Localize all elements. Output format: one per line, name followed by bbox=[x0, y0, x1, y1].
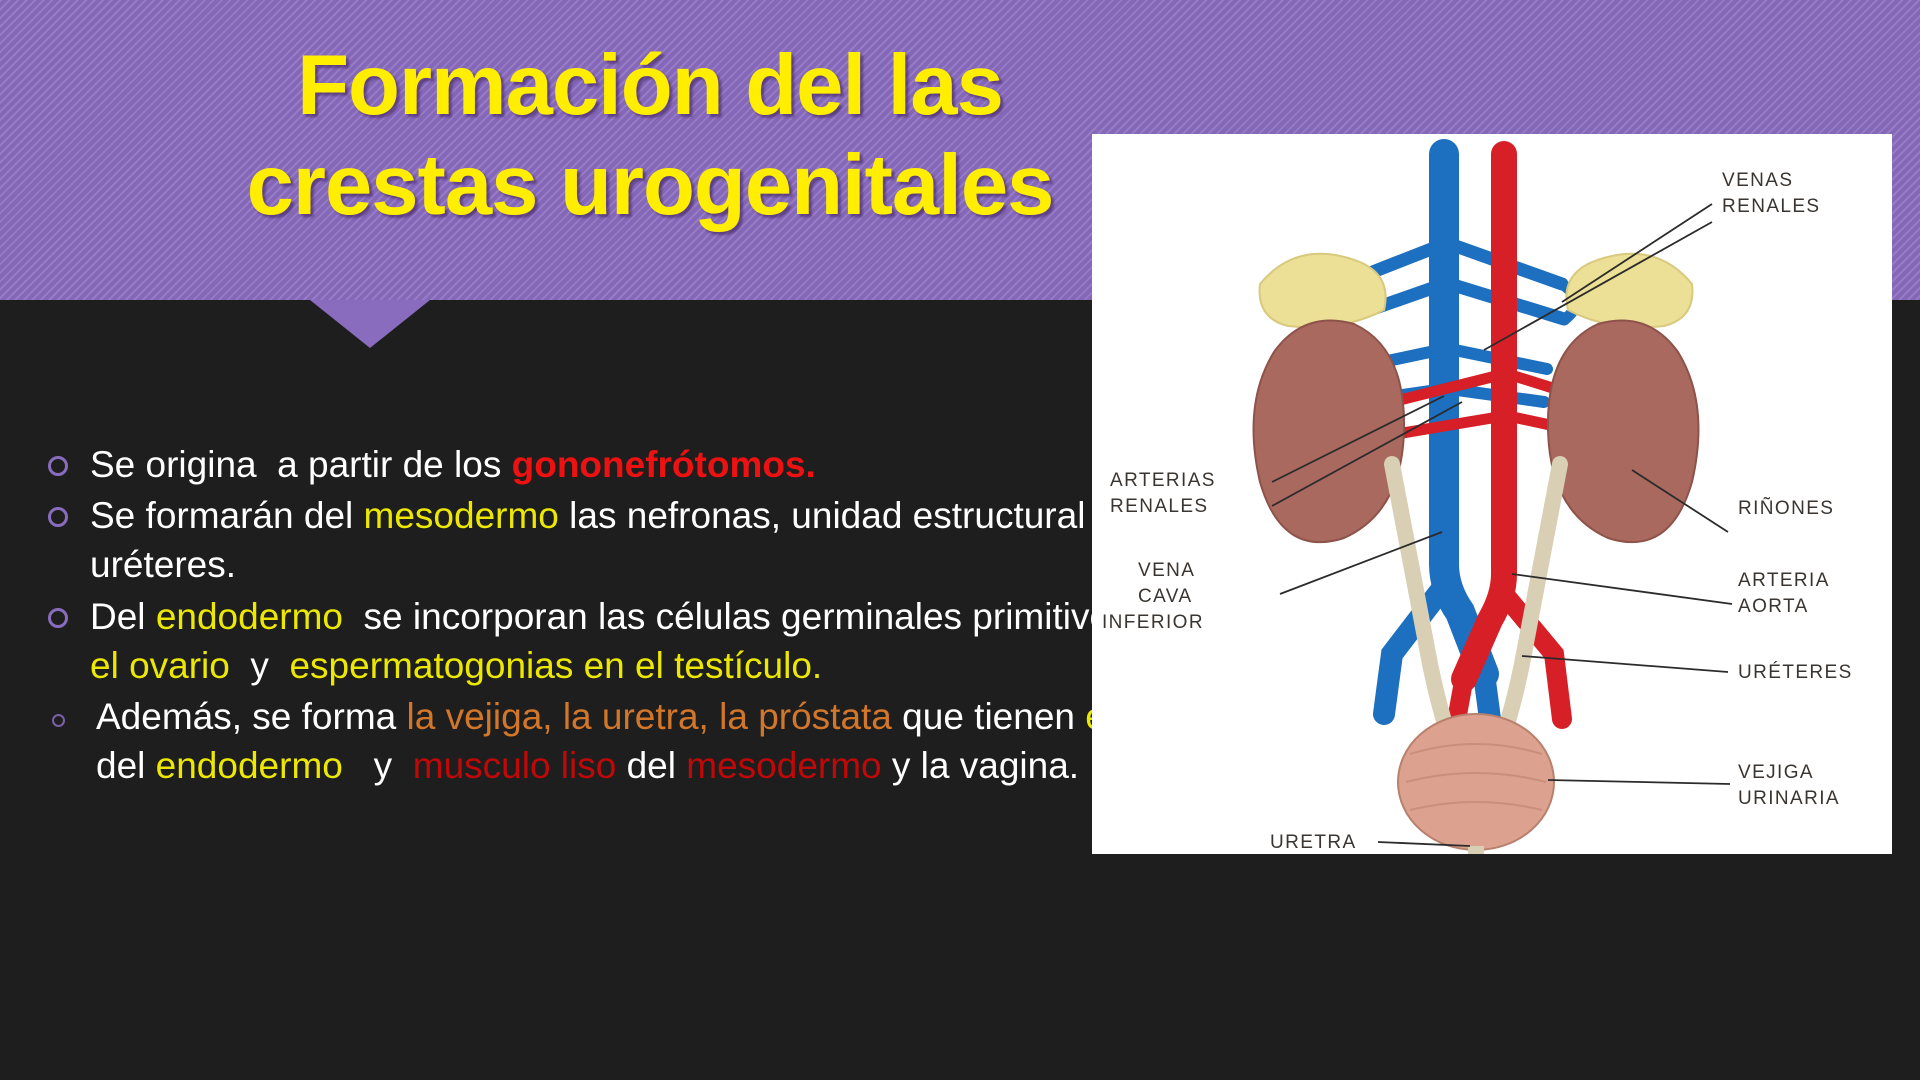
circle-ring-icon bbox=[48, 507, 68, 527]
label-venas-renales-line2: RENALES bbox=[1722, 196, 1821, 217]
text-segment-highlight: mesodermo bbox=[686, 745, 881, 786]
label-vena-cava-line2: CAVA bbox=[1138, 586, 1193, 607]
page-title: Formación del las crestas urogenitales bbox=[110, 36, 1190, 237]
text-segment-highlight: espermatogonias en el testículo. bbox=[289, 645, 822, 686]
text-segment: y la vagina. bbox=[882, 745, 1079, 786]
text-segment: Del bbox=[90, 596, 156, 637]
banner-tail-pointer bbox=[310, 300, 430, 348]
text-segment: Se formarán del bbox=[90, 495, 364, 536]
text-segment: que tienen bbox=[892, 696, 1085, 737]
label-rinones: RIÑONES bbox=[1738, 497, 1834, 519]
label-venas-renales-line1: VENAS bbox=[1722, 170, 1793, 191]
text-segment: Además, se forma bbox=[96, 696, 407, 737]
bullet-marker bbox=[48, 491, 90, 527]
page-title-line-2: crestas urogenitales bbox=[110, 136, 1190, 236]
label-vena-cava-line1: VENA bbox=[1138, 560, 1195, 581]
text-segment-highlight: gononefrótomos. bbox=[512, 444, 816, 485]
bullet-marker bbox=[48, 692, 90, 727]
text-segment-highlight: musculo liso bbox=[413, 745, 617, 786]
text-segment-highlight: mesodermo bbox=[364, 495, 559, 536]
text-segment-highlight: la vejiga, la uretra, la próstata bbox=[407, 696, 892, 737]
text-segment: Se origina a partir de los bbox=[90, 444, 512, 485]
label-vejiga-line2: URINARIA bbox=[1738, 788, 1840, 809]
label-vejiga-line1: VEJIGA bbox=[1738, 762, 1814, 783]
text-segment: y bbox=[343, 745, 413, 786]
circle-ring-icon bbox=[48, 608, 68, 628]
page-title-line-1: Formación del las bbox=[110, 36, 1190, 136]
label-arterias-renales-line2: RENALES bbox=[1110, 496, 1209, 517]
label-vena-cava-line3: INFERIOR bbox=[1102, 612, 1204, 633]
label-arteria-aorta-line1: ARTERIA bbox=[1738, 570, 1830, 591]
text-segment: y bbox=[230, 645, 290, 686]
bullet-marker bbox=[48, 440, 90, 476]
text-segment-highlight: endodermo bbox=[156, 745, 343, 786]
urinary-system-diagram: VENAS RENALES ARTERIAS RENALES VENA CAVA… bbox=[1092, 134, 1892, 854]
label-ureteres: URÉTERES bbox=[1738, 662, 1853, 683]
circle-ring-small-icon bbox=[52, 714, 65, 727]
bullet-marker bbox=[48, 592, 90, 628]
urinary-system-figure: VENAS RENALES ARTERIAS RENALES VENA CAVA… bbox=[1092, 134, 1892, 854]
circle-ring-icon bbox=[48, 456, 68, 476]
text-segment-highlight: endodermo bbox=[156, 596, 343, 637]
label-arterias-renales-line1: ARTERIAS bbox=[1110, 470, 1216, 491]
label-arteria-aorta-line2: AORTA bbox=[1738, 596, 1809, 617]
text-segment: del bbox=[616, 745, 686, 786]
label-uretra: URETRA bbox=[1270, 832, 1357, 853]
